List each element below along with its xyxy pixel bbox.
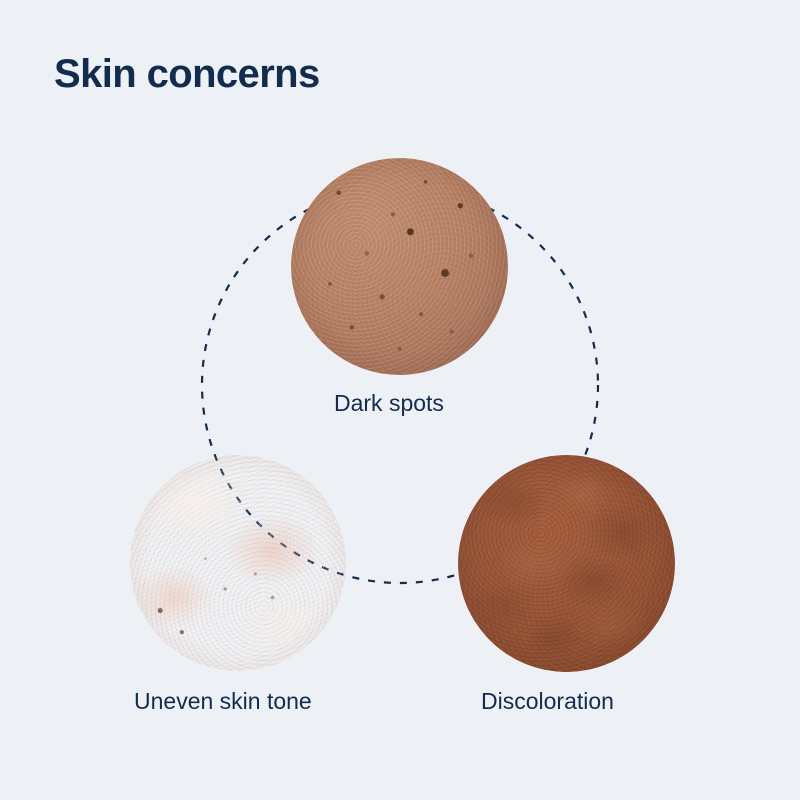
skin-photo-vignette (458, 455, 675, 672)
skin-photo-dark-spots[interactable] (291, 158, 508, 375)
skin-photo-uneven-tone[interactable] (130, 455, 346, 671)
skin-concerns-infographic: Skin concerns Dark spots Uneven skin ton… (0, 0, 800, 800)
skin-photo-vignette (291, 158, 508, 375)
node-label-dark-spots: Dark spots (334, 392, 444, 415)
page-title: Skin concerns (54, 52, 320, 96)
node-label-discoloration: Discoloration (481, 690, 614, 713)
skin-photo-vignette (130, 455, 346, 671)
skin-photo-discoloration[interactable] (458, 455, 675, 672)
node-label-uneven-tone: Uneven skin tone (134, 690, 312, 713)
